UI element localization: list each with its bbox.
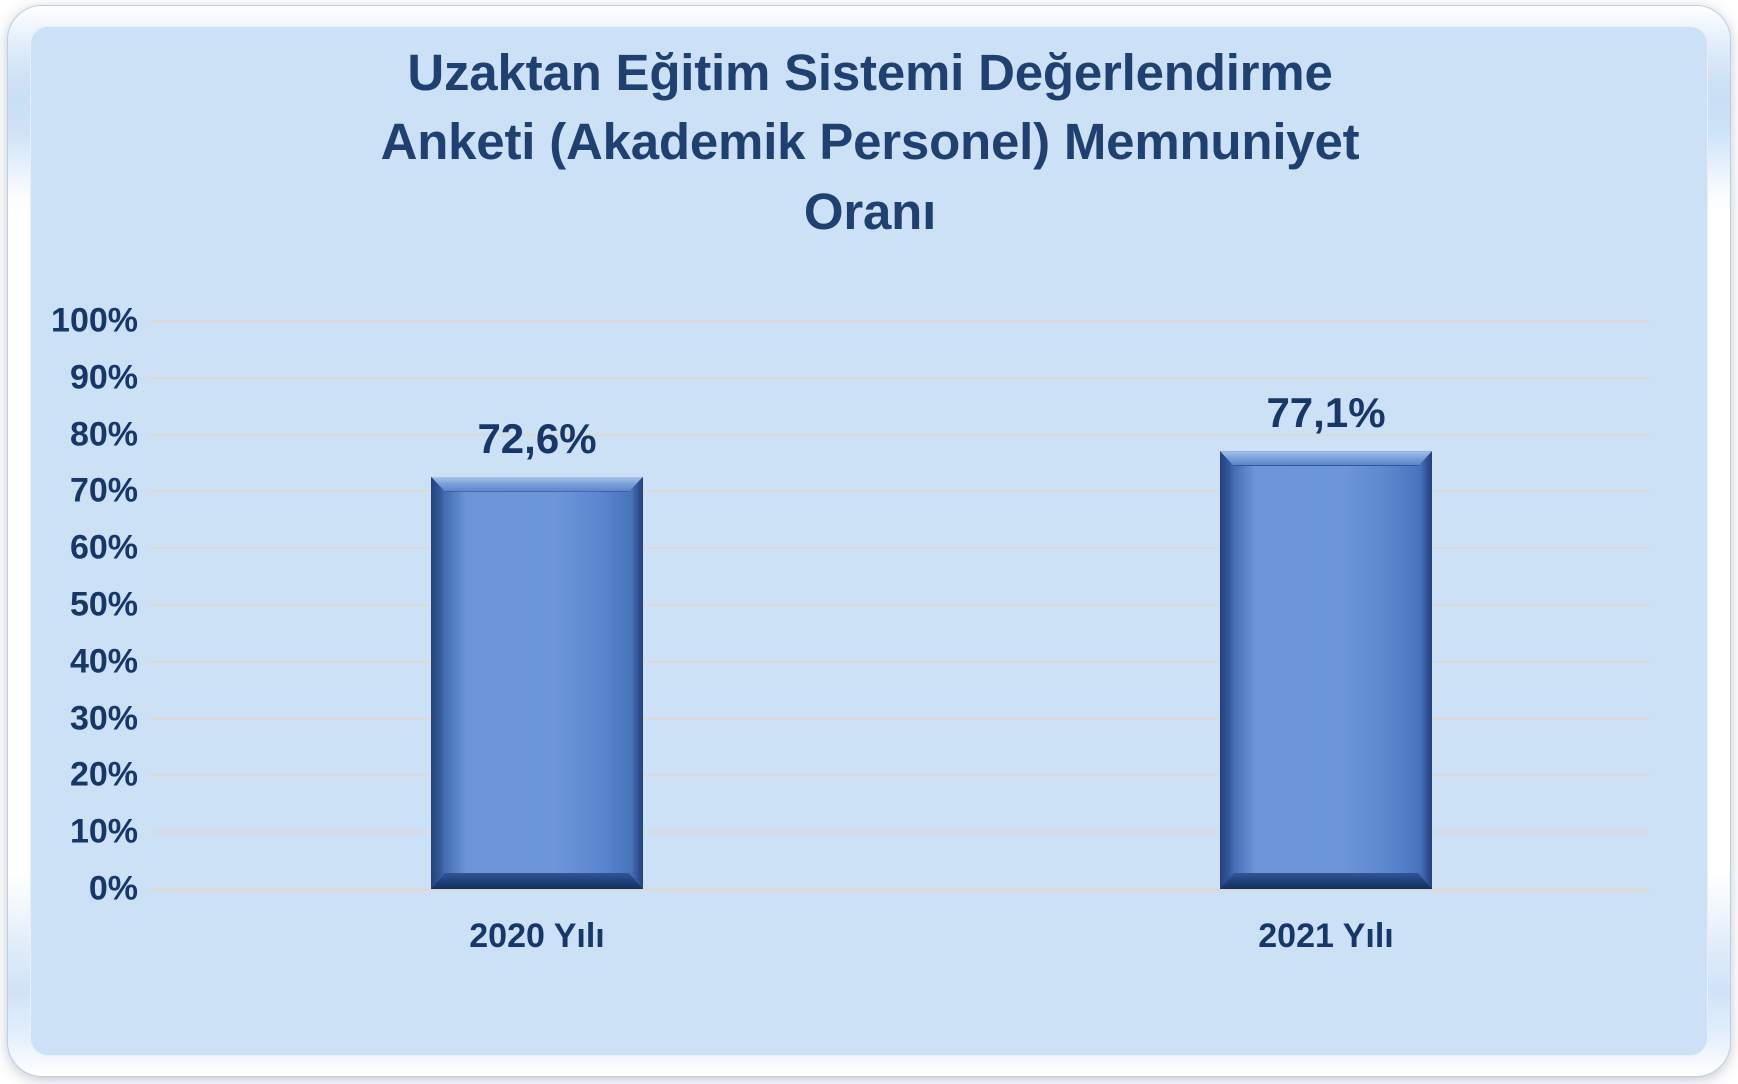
bar[interactable]	[431, 477, 643, 889]
x-axis-category-label: 2021 Yılı	[1258, 917, 1394, 956]
y-axis-tick-label: 50%	[30, 586, 138, 625]
bar-body	[1220, 451, 1432, 889]
y-axis-tick-label: 20%	[30, 756, 138, 795]
y-axis-tick-label: 40%	[30, 642, 138, 681]
gridline	[150, 434, 1650, 436]
bar[interactable]	[1220, 451, 1432, 889]
chart-frame: Uzaktan Eğitim Sistemi Değerlendirme Ank…	[8, 6, 1730, 1076]
bar-right-bevel	[631, 477, 643, 889]
bar-value-label: 77,1%	[1266, 389, 1385, 437]
bar-bottom-bevel	[1220, 873, 1432, 889]
bar-top-bevel	[431, 477, 643, 492]
chart-title-line-1: Uzaktan Eğitim Sistemi Değerlendirme	[150, 38, 1590, 107]
chart-title-line-3: Oranı	[150, 177, 1590, 246]
bar-right-bevel	[1420, 451, 1432, 889]
bar-value-label: 72,6%	[477, 415, 596, 463]
y-axis-tick-label: 10%	[30, 813, 138, 852]
y-axis-tick-label: 100%	[30, 302, 138, 341]
y-axis-tick-label: 80%	[30, 415, 138, 454]
bar-left-bevel	[1220, 451, 1235, 889]
bar-left-bevel	[431, 477, 446, 889]
y-axis-tick-label: 30%	[30, 699, 138, 738]
bar-bottom-bevel	[431, 873, 643, 889]
bar-chart: Uzaktan Eğitim Sistemi Değerlendirme Ank…	[30, 26, 1708, 1056]
y-axis-tick-label: 60%	[30, 529, 138, 568]
chart-frame-inner: Uzaktan Eğitim Sistemi Değerlendirme Ank…	[30, 26, 1708, 1056]
y-axis-tick-label: 70%	[30, 472, 138, 511]
x-axis-category-label: 2020 Yılı	[469, 917, 605, 956]
gridline	[150, 320, 1650, 322]
y-axis-tick-label: 0%	[30, 870, 138, 909]
chart-title: Uzaktan Eğitim Sistemi Değerlendirme Ank…	[150, 38, 1590, 246]
gridline	[150, 377, 1650, 379]
y-axis-tick-label: 90%	[30, 358, 138, 397]
bar-top-bevel	[1220, 451, 1432, 466]
chart-title-line-2: Anketi (Akademik Personel) Memnuniyet	[150, 107, 1590, 176]
bar-body	[431, 477, 643, 889]
